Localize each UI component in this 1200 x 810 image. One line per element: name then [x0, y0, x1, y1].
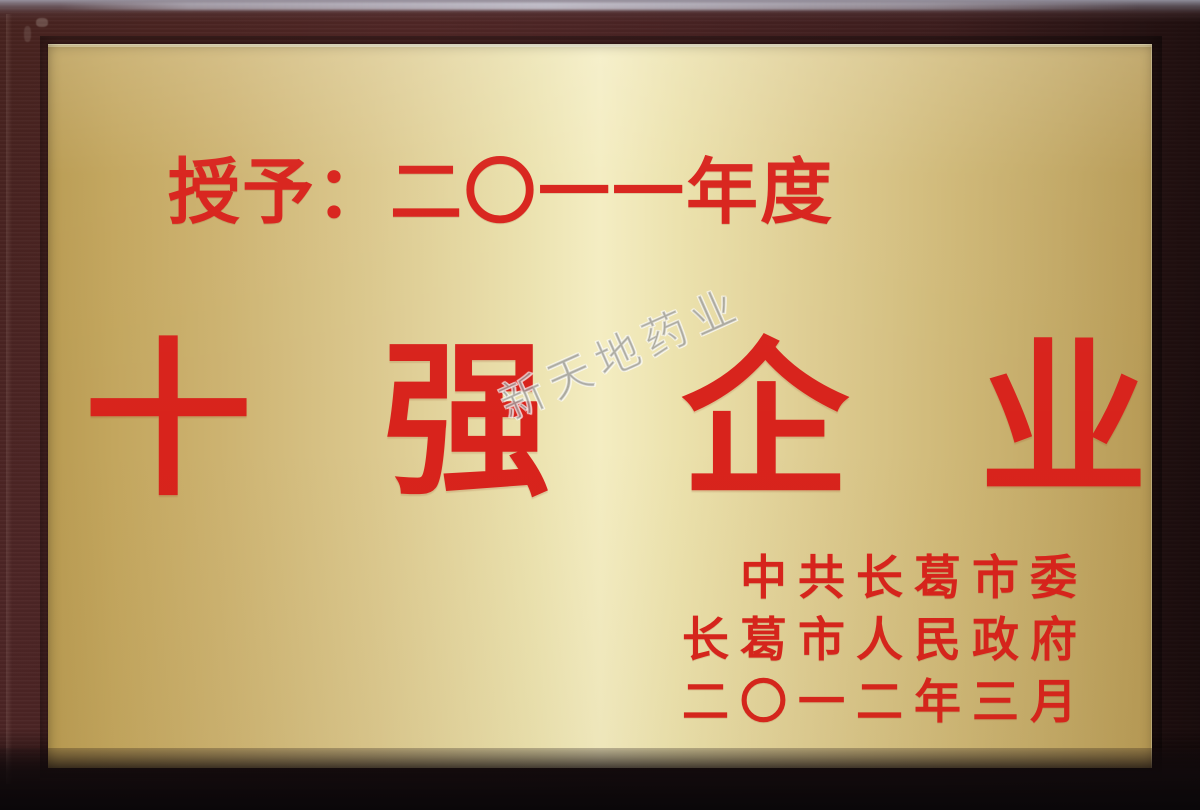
issuer-government-line: 长葛市人民政府 — [671, 610, 1088, 672]
issue-date-line: 二〇一二年三月 — [671, 672, 1088, 734]
award-year-line: 授予：二〇一一年度 — [168, 156, 834, 228]
frame-scuff-mark — [36, 18, 48, 27]
frame-top-specular-streak — [60, 2, 1140, 10]
frame-left-bevel — [6, 14, 12, 784]
plate-top-edge-highlight — [48, 44, 1152, 47]
signature-block: 中共长葛市委 长葛市人民政府 二〇一二年三月 — [671, 548, 1088, 734]
frame-top-highlight — [0, 0, 1200, 22]
plaque-frame: 授予：二〇一一年度 十 强 企 业 中共长葛市委 长葛市人民政府 二〇一二年三月… — [0, 0, 1200, 810]
issuer-party-line: 中共长葛市委 — [671, 548, 1088, 610]
frame-scuff-mark — [24, 26, 31, 42]
plaque-main-title: 十 强 企 业 — [48, 336, 1152, 504]
plaque-plate: 授予：二〇一一年度 十 强 企 业 中共长葛市委 长葛市人民政府 二〇一二年三月… — [48, 44, 1152, 768]
